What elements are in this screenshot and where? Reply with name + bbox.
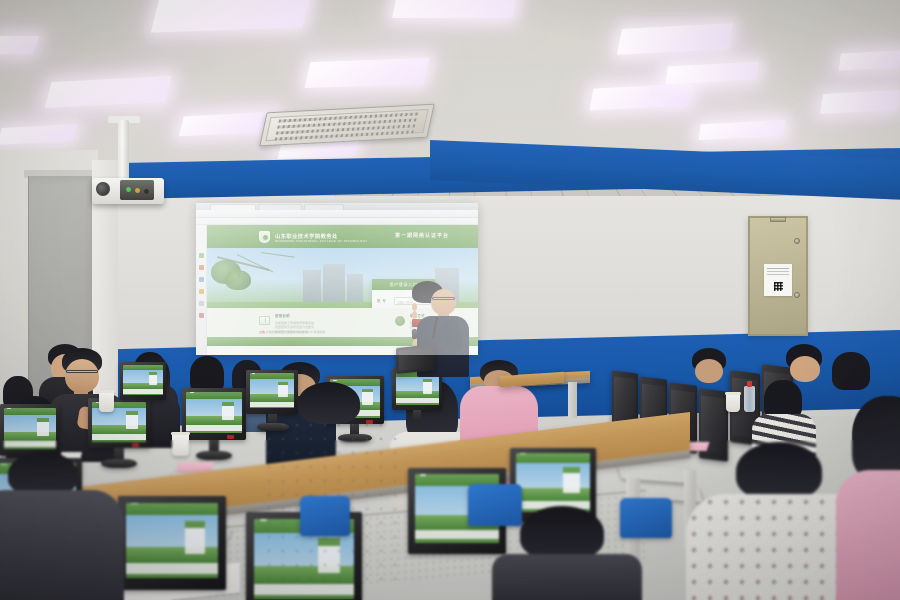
username-label: 账 号 [377, 299, 386, 304]
campus-tree [225, 270, 251, 290]
desktop-monitor [88, 398, 150, 448]
eyeglasses [66, 370, 98, 373]
posted-notice-with-qr-code [764, 264, 792, 296]
cabinet-latch[interactable] [794, 292, 800, 298]
head [65, 359, 99, 393]
screen-logo-icon [333, 380, 336, 381]
screen-logo-icon [252, 373, 255, 374]
monitor-screen [186, 392, 241, 434]
paper-coffee-cup [99, 390, 114, 412]
attendee [684, 348, 732, 424]
book-icon [259, 316, 270, 325]
screen-login-card [185, 521, 205, 554]
footer-notice-text: 系统维护通知：本周六 22:00-24:00 暂停服务 [266, 330, 326, 334]
screen-footer [4, 441, 56, 449]
screen-footer [186, 425, 241, 433]
ceiling-light-panel [151, 0, 311, 33]
torso [836, 470, 900, 600]
screen-page-header [4, 408, 56, 415]
download-icon[interactable] [199, 289, 204, 294]
desk-leg [568, 382, 577, 418]
monitor-screen [516, 453, 590, 512]
screen-logo-icon [520, 453, 525, 454]
hair [520, 506, 604, 560]
ceiling-cassette-air-conditioner [259, 104, 434, 147]
footer-col1-line: 初始密码为身份证后六位数字 [275, 325, 314, 330]
monitor-base [196, 451, 232, 460]
projector-mount-pole [118, 120, 129, 182]
contact-icon [395, 316, 405, 326]
presenter-ear [412, 311, 417, 319]
paper-coffee-cup [726, 392, 740, 412]
screen-footer [92, 434, 145, 442]
screen-logo-icon [420, 474, 426, 475]
ceiling-light-panel [0, 36, 39, 54]
torso [0, 490, 124, 600]
footer-notice: 公告 系统维护通知：本周六 22:00-24:00 暂停服务 [259, 330, 326, 334]
monitor-cable-clip [132, 443, 139, 447]
portal-tagline: 第一期网络认证平台 [395, 232, 449, 239]
monitor-screen [123, 365, 163, 395]
browser-tab-strip [196, 203, 478, 210]
projector-bracket [120, 180, 154, 200]
attendee-foreground-pink [846, 396, 900, 600]
screen-hero-lawn [396, 391, 439, 398]
screen-logo-icon [131, 503, 138, 504]
screen-login-card [423, 379, 432, 394]
attendee-foreground-grey [278, 382, 386, 572]
notice-text-lines [767, 268, 789, 269]
desktop-monitor [182, 388, 246, 440]
ceiling-light-panel [665, 62, 759, 85]
footer-notice-tag: 公告 [259, 330, 265, 334]
torso [492, 554, 642, 600]
bookmark-icon[interactable] [199, 265, 204, 270]
lectern-laptop [396, 344, 436, 374]
ceiling-light-panel [698, 120, 785, 140]
torso [262, 418, 402, 580]
desktop-monitor-foreground [118, 496, 226, 590]
browser-toolbar [196, 210, 478, 218]
ceiling-light-panel [820, 90, 900, 114]
screen-footer [396, 398, 439, 404]
ceiling-light-panel [0, 124, 77, 145]
screen-login-card [563, 467, 579, 493]
desktop-monitor [0, 404, 60, 456]
screen-page-header [516, 453, 590, 463]
projector-indicator-amber [135, 188, 140, 193]
classroom-photo: 山东职业技术学院教务处 SHANDONG VOCATIONAL COLLEGE … [0, 0, 900, 600]
ceiling-light-panel [304, 58, 429, 88]
desktop-monitor [120, 362, 166, 400]
screen-login-card [37, 418, 48, 436]
campus-building [347, 274, 363, 304]
footer-col1-title: 使用说明 [275, 313, 314, 318]
campus-building [323, 264, 345, 304]
university-shield-logo [259, 231, 270, 243]
campus-building [303, 270, 321, 304]
projector-indicator-dark [144, 189, 149, 194]
ceiling-light-panel [839, 50, 900, 70]
history-icon[interactable] [199, 277, 204, 282]
screen-page-header [126, 503, 219, 516]
projector-indicator-green [126, 187, 131, 192]
monitor-cable-clip [227, 435, 234, 439]
screen-footer [415, 530, 499, 543]
projector-lens [96, 182, 110, 196]
screen-footer [123, 389, 163, 395]
username-placeholder: 请输入账号 [397, 300, 413, 305]
portal-subtitle: SHANDONG VOCATIONAL COLLEGE OF TECHNOLOG… [275, 239, 368, 243]
attendee-foreground [498, 506, 628, 600]
attendee-foreground-left [0, 452, 112, 600]
portal-header: 山东职业技术学院教务处 SHANDONG VOCATIONAL COLLEGE … [207, 225, 478, 248]
monitor-neck [413, 410, 421, 421]
foreground-branch [261, 252, 295, 258]
screen-login-card [222, 402, 234, 420]
screen-login-card [126, 411, 138, 429]
electrical-distribution-cabinet [748, 216, 808, 336]
presenter-eyeglasses [432, 297, 455, 300]
paper-coffee-cup [172, 432, 189, 456]
screen-page-header [186, 392, 241, 399]
home-icon[interactable] [199, 253, 204, 258]
ceiling-light-panel [45, 76, 172, 108]
ceiling-light-panel [617, 23, 733, 55]
screen-footer [254, 584, 354, 599]
hair [736, 442, 822, 500]
settings-icon[interactable] [199, 301, 204, 306]
screen-footer [126, 563, 219, 577]
screen-logo-icon [190, 392, 194, 393]
ceiling-light-panel [590, 83, 693, 110]
monitor-screen [126, 503, 219, 578]
browser-bookmark-bar [196, 218, 478, 225]
ceiling-light-panel [392, 0, 518, 18]
cabinet-handle[interactable] [770, 217, 786, 222]
hair [832, 352, 870, 390]
hair [852, 396, 900, 480]
browser-sidebar [196, 225, 207, 355]
cabinet-latch[interactable] [794, 238, 800, 244]
qr-code [774, 282, 783, 291]
screen-login-card [149, 372, 158, 385]
extension-icon[interactable] [199, 313, 204, 318]
monitor-screen [4, 408, 56, 450]
screen-logo-icon [7, 408, 11, 409]
presenter-ear [412, 303, 417, 311]
